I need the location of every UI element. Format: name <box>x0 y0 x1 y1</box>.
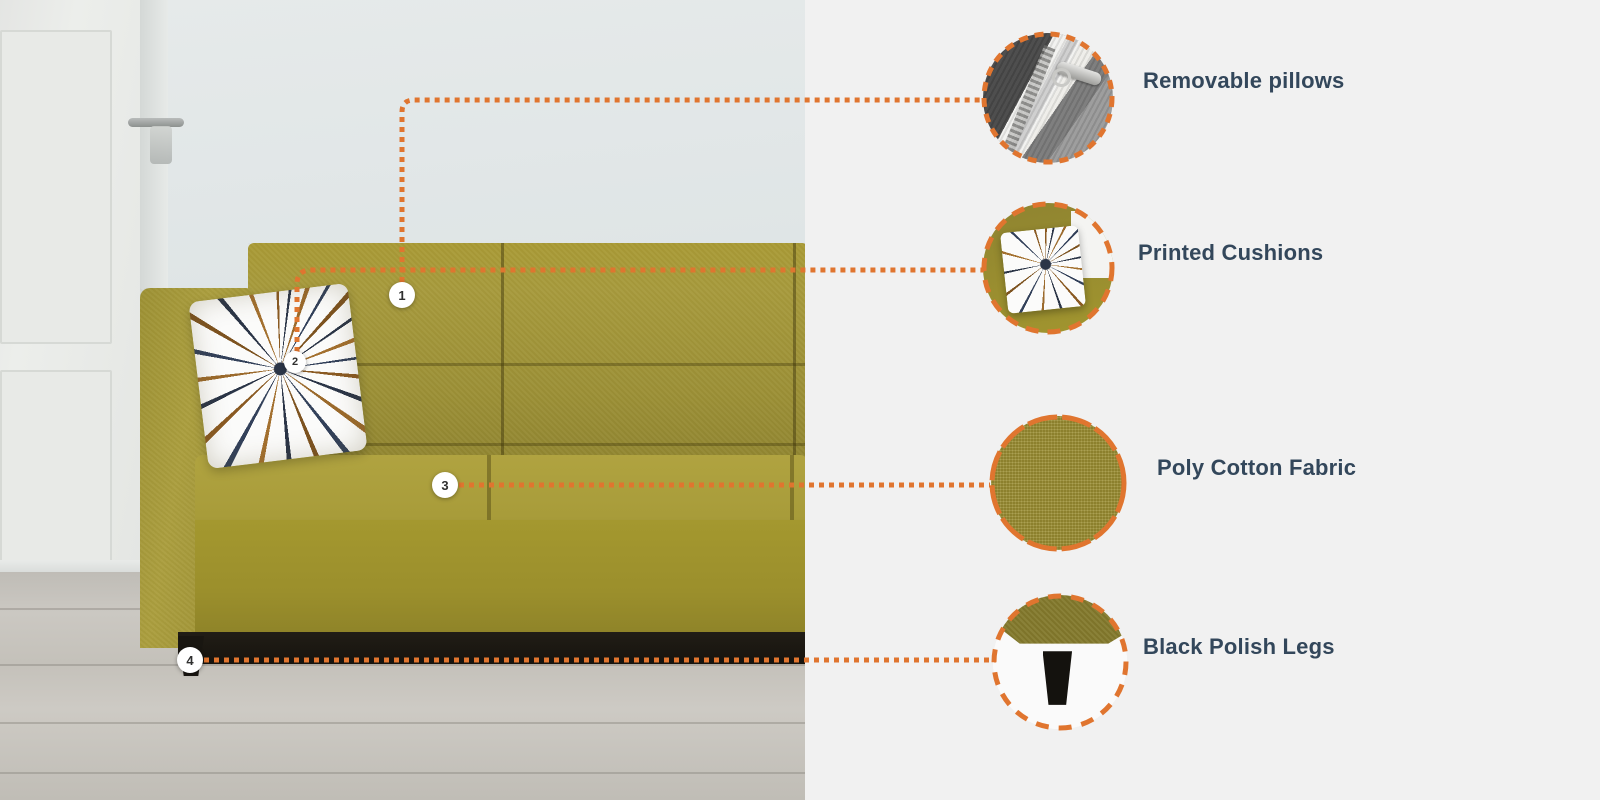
feature-row-3: Poly Cotton Fabric <box>805 403 1600 563</box>
features-panel: Removable pillows Printed Cushions Poly … <box>805 0 1600 800</box>
infographic-stage: Removable pillows Printed Cushions Poly … <box>0 0 1600 800</box>
feature-marker-3[interactable]: 3 <box>432 472 458 498</box>
feature-label-1: Removable pillows <box>1143 68 1344 94</box>
printed-cushion-icon <box>983 203 1113 333</box>
sofa-plinth <box>178 632 805 664</box>
feature-row-4: Black Polish Legs <box>805 582 1600 742</box>
feature-label-4: Black Polish Legs <box>1143 634 1335 660</box>
door-handle-plate <box>150 126 172 164</box>
door-panel-upper <box>0 30 112 344</box>
feature-marker-1[interactable]: 1 <box>389 282 415 308</box>
room-door <box>0 0 143 580</box>
feature-label-2: Printed Cushions <box>1138 240 1323 266</box>
feature-label-3: Poly Cotton Fabric <box>1157 455 1356 481</box>
feature-row-2: Printed Cushions <box>805 190 1600 350</box>
feature-row-1: Removable pillows <box>805 18 1600 178</box>
sofa-base <box>195 520 805 640</box>
product-photo <box>0 0 805 800</box>
door-panel-lower <box>0 370 112 574</box>
feature-marker-2[interactable]: 2 <box>284 351 306 373</box>
fabric-swatch-icon <box>991 416 1125 550</box>
printed-throw-pillow <box>188 283 367 469</box>
feature-marker-4[interactable]: 4 <box>177 647 203 673</box>
zipper-pillow-icon <box>983 33 1113 163</box>
sofa-leg-icon <box>993 595 1127 729</box>
